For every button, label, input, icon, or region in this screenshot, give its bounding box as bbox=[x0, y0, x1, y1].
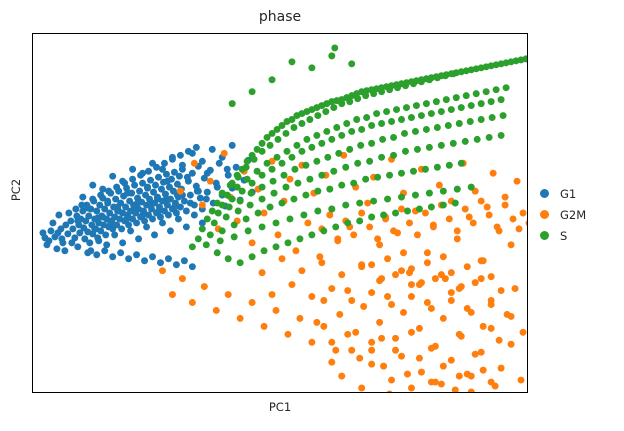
legend-marker-icon-g2m bbox=[540, 210, 549, 219]
legend-item-g1[interactable]: G1 bbox=[540, 183, 620, 204]
scatter-plot-figure: phase PC1 PC2 G1 G2M S bbox=[0, 0, 624, 431]
legend-label-g1: G1 bbox=[560, 187, 576, 201]
legend-label-s: S bbox=[560, 229, 567, 243]
y-axis-label: PC2 bbox=[9, 160, 23, 220]
legend-item-g2m[interactable]: G2M bbox=[540, 204, 620, 225]
legend: G1 G2M S bbox=[540, 183, 620, 246]
x-axis-label: PC1 bbox=[32, 400, 528, 414]
legend-item-s[interactable]: S bbox=[540, 225, 620, 246]
legend-marker-icon-s bbox=[540, 231, 549, 240]
scatter-series-s bbox=[189, 44, 527, 266]
page-title: phase bbox=[32, 8, 528, 26]
plot-area[interactable] bbox=[32, 33, 528, 393]
legend-label-g2m: G2M bbox=[560, 208, 586, 222]
scatter-points-layer bbox=[33, 34, 527, 392]
legend-marker-icon-g1 bbox=[540, 189, 549, 198]
